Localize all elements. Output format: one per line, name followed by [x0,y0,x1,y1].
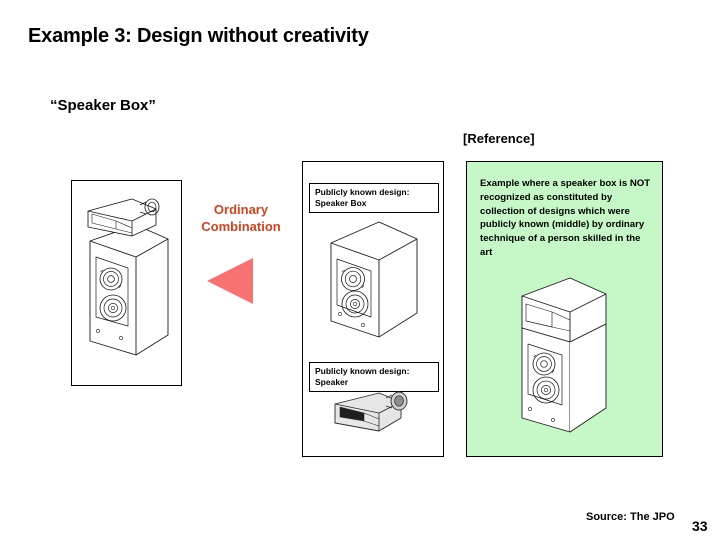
publicly-known-designs-frame: Publicly known design: Speaker Box Publi… [302,161,444,457]
caption-speaker: Publicly known design: Speaker [309,362,439,392]
left-illustration-frame [71,180,182,386]
caption-speaker-line2: Speaker [315,377,434,388]
reference-note-text: Example where a speaker box is NOT recog… [480,177,652,260]
reference-note-frame: Example where a speaker box is NOT recog… [466,161,663,457]
ordinary-combination-caption: Ordinary Combination [182,202,300,235]
ordinary-combination-line2: Combination [182,219,300,236]
left-arrow-icon [207,258,253,304]
page-title: Example 3: Design without creativity [28,25,369,48]
caption-speaker-line1: Publicly known design: [315,366,434,377]
slide-subtitle: “Speaker Box” [50,97,156,114]
page-number: 33 [692,518,708,534]
caption-speaker-box-line1: Publicly known design: [315,187,434,198]
speaker-box-two-drivers-icon [313,209,433,354]
speaker-box-with-integrated-horn-icon [512,272,622,444]
reference-label: [Reference] [463,131,535,146]
source-credit: Source: The JPO [586,511,675,523]
caption-speaker-box-line2: Speaker Box [315,198,434,209]
ordinary-combination-line1: Ordinary [182,202,300,219]
speaker-box-with-horn-tweeter-icon [78,195,177,375]
horn-tweeter-icon [331,390,417,442]
